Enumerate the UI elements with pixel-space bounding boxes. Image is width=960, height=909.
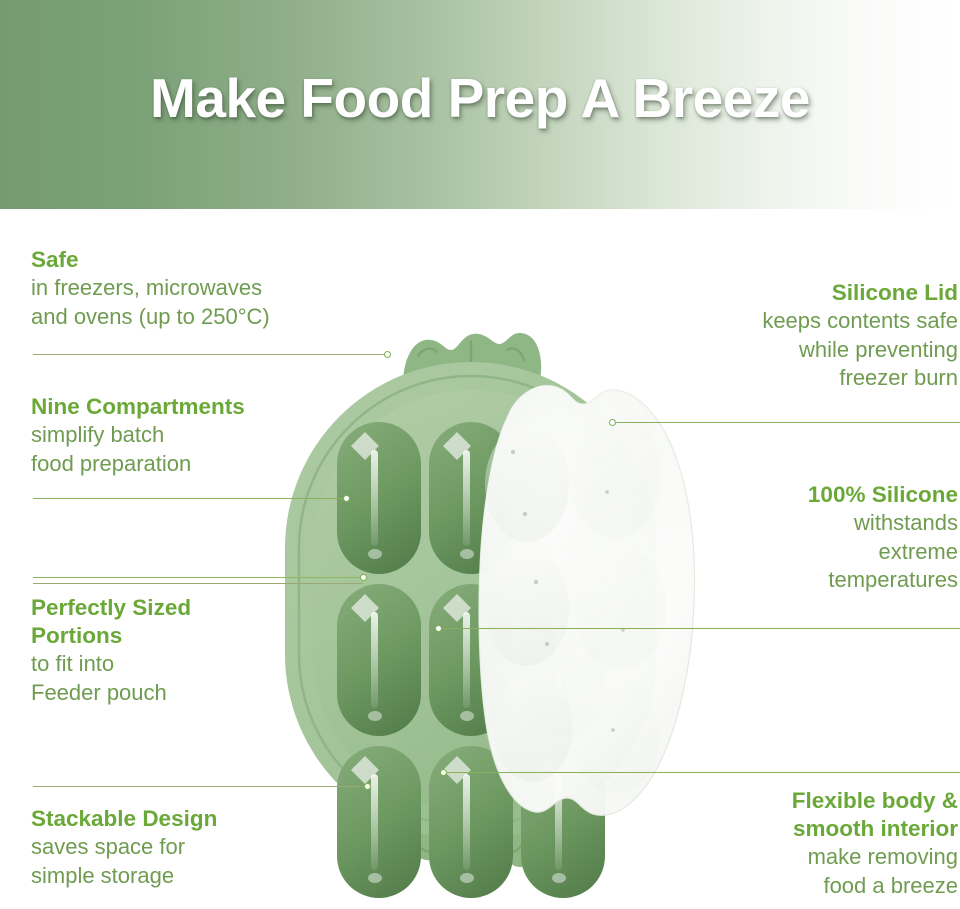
leader-dot-compartments [343,495,350,502]
feature-flexible-line-2: food a breeze [792,872,958,901]
feature-portions-heading-line-1: Perfectly Sized [31,594,191,622]
feature-stackable-line-2: simple storage [31,862,217,891]
divider-right-3 [443,772,960,773]
feature-safe-line-1: in freezers, microwaves [31,274,270,303]
compartment [337,746,421,898]
lid-bumps [485,414,667,794]
feature-safe-line-2: and ovens (up to 250°C) [31,303,270,332]
feature-stackable-line-1: saves space for [31,833,217,862]
feature-hundred-silicone-line-2: extreme [808,538,958,567]
feature-stackable-design: Stackable Design saves space for simple … [31,805,217,890]
feature-silicone-lid-line-3: freezer burn [762,364,958,393]
feature-flexible-heading-line-1: Flexible body & [792,787,958,815]
feature-hundred-silicone-line-1: withstands [808,509,958,538]
feature-silicone-lid-line-1: keeps contents safe [762,307,958,336]
feature-safe-heading: Safe [31,246,270,274]
feature-hundred-silicone-heading: 100% Silicone [808,481,958,509]
feature-portions-line-1: to fit into [31,650,191,679]
feature-stackable-heading: Stackable Design [31,805,217,833]
lid-group [479,386,694,816]
feature-hundred-percent-silicone: 100% Silicone withstands extreme tempera… [808,481,958,595]
feature-flexible-heading-line-2: smooth interior [792,815,958,843]
leader-dot-stackable [364,783,371,790]
divider-right-1 [612,422,960,423]
feature-portions-heading-line-2: Portions [31,622,191,650]
divider-right-2 [438,628,960,629]
product-illustration [255,300,715,900]
feature-nine-compartments-heading: Nine Compartments [31,393,245,421]
feature-safe: Safe in freezers, microwaves and ovens (… [31,246,270,331]
feature-silicone-lid-line-2: while preventing [762,336,958,365]
feature-nine-compartments-line-2: food preparation [31,450,245,479]
feature-flexible-body: Flexible body & smooth interior make rem… [792,787,958,900]
feature-portions-line-2: Feeder pouch [31,679,191,708]
leader-line-portions [33,577,363,578]
compartment [337,584,421,736]
divider-left-3 [33,583,363,584]
divider-left-1 [33,354,387,355]
feature-nine-compartments-line-1: simplify batch [31,421,245,450]
header-banner: Make Food Prep A Breeze [0,0,960,209]
page-title: Make Food Prep A Breeze [0,62,960,134]
feature-flexible-line-1: make removing [792,843,958,872]
leader-dot-safe [384,351,391,358]
divider-left-4 [33,786,367,787]
feature-silicone-lid-heading: Silicone Lid [762,279,958,307]
infographic-canvas: Make Food Prep A Breeze [0,0,960,909]
feature-perfectly-sized-portions: Perfectly Sized Portions to fit into Fee… [31,594,191,707]
divider-left-2 [33,498,346,499]
leader-dot-silicone [435,625,442,632]
feature-hundred-silicone-line-3: temperatures [808,566,958,595]
leader-dot-lid [609,419,616,426]
leader-dot-flexible [440,769,447,776]
feature-nine-compartments: Nine Compartments simplify batch food pr… [31,393,245,478]
leader-dot-portions [360,574,367,581]
feature-silicone-lid: Silicone Lid keeps contents safe while p… [762,279,958,393]
